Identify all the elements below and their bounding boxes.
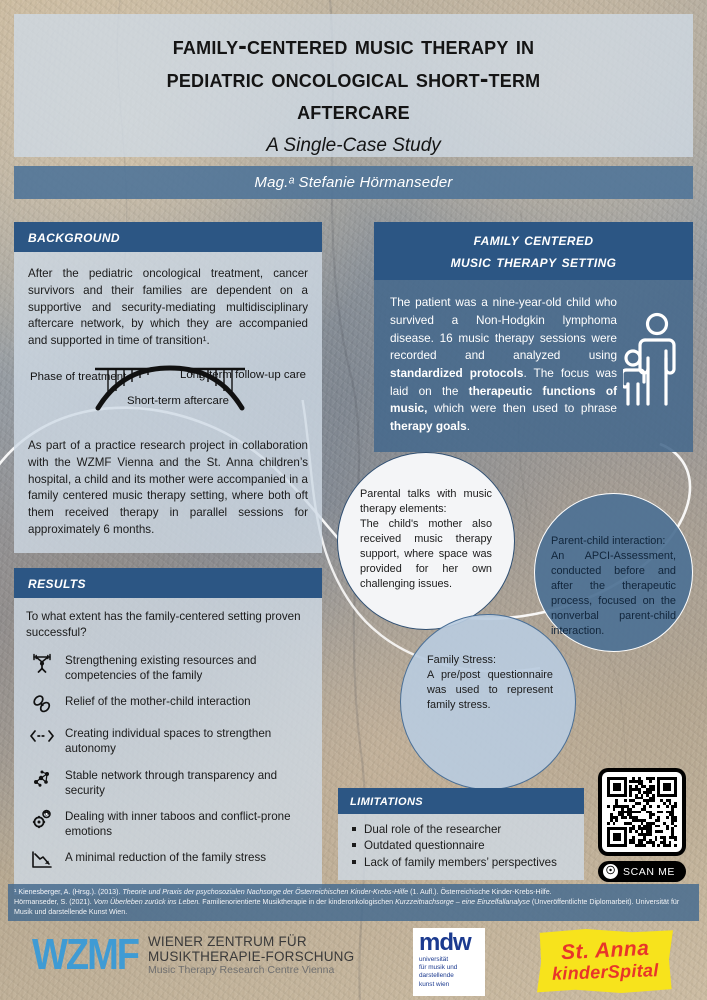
circle-parental-text: Parental talks with music therapy elemen… (338, 453, 514, 592)
setting-bold-1: standardized protocols (390, 366, 523, 380)
reference-2-italic-2: Kurzzeitnachsorge – eine Einzelfallanaly… (395, 898, 530, 906)
results-section: Results To what extent has the family-ce… (14, 568, 322, 895)
qr-code-grid (607, 777, 677, 847)
circle-stress-title: Family Stress: (427, 654, 496, 666)
list-item: Stable network through transparency and … (30, 767, 310, 798)
footer-logos: WZMF WIENER ZENTRUM FÜR MUSIKTHERAPIE-FO… (0, 926, 707, 1000)
title-line-2: pediatric oncological short-term (44, 63, 663, 96)
bridge-diagram: Phase of treatment Long-term follow-up c… (28, 364, 308, 426)
list-item: Dual role of the researcher (350, 822, 572, 838)
circle-stress-body: A pre/post questionnaire was used to rep… (427, 669, 553, 711)
list-item: Creating individual spaces to strengthen… (30, 725, 310, 756)
setting-heading-line-2: Music Therapy Setting (384, 251, 683, 273)
scan-me-label: SCAN ME (623, 866, 675, 878)
list-item: Lack of family members’ perspectives (350, 855, 572, 871)
circle-family-stress: Family Stress: A pre/post questionnaire … (400, 614, 576, 790)
network-nodes-icon (30, 767, 54, 789)
list-item: Outdated questionnaire (350, 838, 572, 854)
limitations-section: Limitations Dual role of the researcher … (338, 788, 584, 880)
setting-text-3: which were then used to phrase (427, 401, 617, 415)
results-section-heading: Results (14, 568, 322, 598)
list-item: Strengthening existing resources and com… (30, 652, 310, 683)
results-item-label: Creating individual spaces to strengthen… (65, 725, 310, 756)
title-line-3: aftercare (44, 95, 663, 128)
poster-root: Family-centered music therapy in pediatr… (0, 0, 707, 1000)
background-section-body: After the pediatric oncological treatmen… (14, 252, 322, 553)
declining-chart-icon (30, 849, 54, 871)
scan-me-badge[interactable]: ☉ SCAN ME (598, 861, 686, 882)
wzmf-line-2: MUSIKTHERAPIE-FORSCHUNG (148, 949, 354, 964)
mdw-logo: mdw universität für musik und darstellen… (413, 928, 485, 996)
references-block: ¹ Kienesberger, A. (Hrsg.). (2013). Theo… (8, 884, 699, 921)
qr-block[interactable]: ☉ SCAN ME (598, 768, 693, 882)
expand-arrows-icon (30, 725, 54, 747)
reference-1-pre: ¹ Kienesberger, A. (Hrsg.). (2013). (14, 888, 122, 896)
results-list: Strengthening existing resources and com… (26, 652, 310, 871)
background-section-heading: Background (14, 222, 322, 252)
mdw-subtitle: universität für musik und darstellende k… (419, 956, 479, 989)
results-item-label: Relief of the mother-child interaction (65, 693, 251, 709)
reference-1: ¹ Kienesberger, A. (Hrsg.). (2013). Theo… (14, 887, 693, 897)
wzmf-logo: WZMF WIENER ZENTRUM FÜR MUSIKTHERAPIE-FO… (32, 934, 354, 977)
chain-link-icon (30, 693, 54, 715)
parent-and-child-icon (623, 294, 677, 436)
background-paragraph-1: After the pediatric oncological treatmen… (28, 266, 308, 350)
weightlifter-icon (30, 652, 54, 674)
qr-code-inner (602, 772, 682, 852)
wzmf-line-1: WIENER ZENTRUM FÜR (148, 934, 354, 949)
results-question: To what extent has the family-centered s… (26, 609, 310, 640)
setting-section: Family Centered Music Therapy Setting Th… (374, 222, 693, 452)
setting-section-heading: Family Centered Music Therapy Setting (374, 222, 693, 280)
list-item: Relief of the mother-child interaction (30, 693, 310, 715)
limitations-section-body: Dual role of the researcher Outdated que… (338, 814, 584, 880)
circle-parental-talks: Parental talks with music therapy elemen… (337, 452, 515, 630)
results-item-label: A minimal reduction of the family stress (65, 849, 266, 865)
gears-icon (30, 808, 54, 830)
mdw-wordmark: mdw (419, 932, 479, 954)
circle-stress-text: Family Stress: A pre/post questionnaire … (401, 615, 575, 713)
qr-code-icon[interactable] (598, 768, 686, 856)
wzmf-wordmark: WZMF (32, 936, 138, 975)
bridge-icon (90, 364, 250, 412)
results-item-label: Stable network through transparency and … (65, 767, 310, 798)
reference-2: Hörmanseder, S. (2021). Vom Überleben zu… (14, 897, 693, 917)
background-section: Background After the pediatric oncologic… (14, 222, 322, 553)
pdf-icon: ☉ (603, 864, 618, 879)
reference-1-italic: Theorie und Praxis der psychosozialen Na… (122, 888, 408, 896)
wzmf-name: WIENER ZENTRUM FÜR MUSIKTHERAPIE-FORSCHU… (148, 934, 354, 977)
title-line-1: Family-centered music therapy in (44, 30, 663, 63)
setting-text: The patient was a nine-year-old child wh… (390, 294, 617, 436)
limitations-list: Dual role of the researcher Outdated que… (350, 822, 572, 871)
wzmf-line-3: Music Therapy Research Centre Vienna (148, 965, 354, 977)
st-anna-logo: St. Anna kinderSpital (537, 929, 673, 993)
reference-2-pre: Hörmanseder, S. (2021). (14, 898, 94, 906)
circle-parental-title: Parental talks with music therapy elemen… (360, 488, 492, 515)
results-item-label: Dealing with inner taboos and conflict-p… (65, 808, 310, 839)
mdw-sub-4: kunst wien (419, 981, 479, 989)
mdw-sub-2: für musik und (419, 964, 479, 972)
mdw-sub-3: darstellende (419, 972, 479, 980)
results-item-label: Strengthening existing resources and com… (65, 652, 310, 683)
page-subtitle: A Single-Case Study (14, 135, 693, 157)
mdw-sub-1: universität (419, 956, 479, 964)
reference-2-mid: Familienorientierte Musiktherapie in der… (200, 898, 395, 906)
circle-apci-title: Parent-child interaction: (551, 535, 665, 547)
list-item: Dealing with inner taboos and conflict-p… (30, 808, 310, 839)
author-bar: Mag.ᵃ Stefanie Hörmanseder (14, 166, 693, 199)
setting-section-body: The patient was a nine-year-old child wh… (374, 280, 693, 452)
st-anna-line-2: kinderSpital (551, 960, 658, 985)
page-title: Family-centered music therapy in pediatr… (14, 14, 693, 128)
setting-bold-3: therapy goals (390, 419, 467, 433)
circle-parental-body: The child's mother also received music t… (360, 518, 492, 590)
title-panel: Family-centered music therapy in pediatr… (14, 14, 693, 157)
background-paragraph-2: As part of a practice research project i… (28, 438, 308, 539)
setting-text-4: . (467, 419, 470, 433)
setting-text-1: The patient was a nine-year-old child wh… (390, 295, 617, 362)
results-section-body: To what extent has the family-centered s… (14, 598, 322, 895)
reference-2-italic-1: Vom Überleben zurück ins Leben. (94, 898, 201, 906)
reference-1-post: (1. Aufl.). Österreichische Kinder-Krebs… (408, 888, 552, 896)
author-name: Mag.ᵃ Stefanie Hörmanseder (254, 174, 452, 191)
list-item: A minimal reduction of the family stress (30, 849, 310, 871)
setting-heading-line-1: Family Centered (384, 229, 683, 251)
limitations-section-heading: Limitations (338, 788, 584, 814)
